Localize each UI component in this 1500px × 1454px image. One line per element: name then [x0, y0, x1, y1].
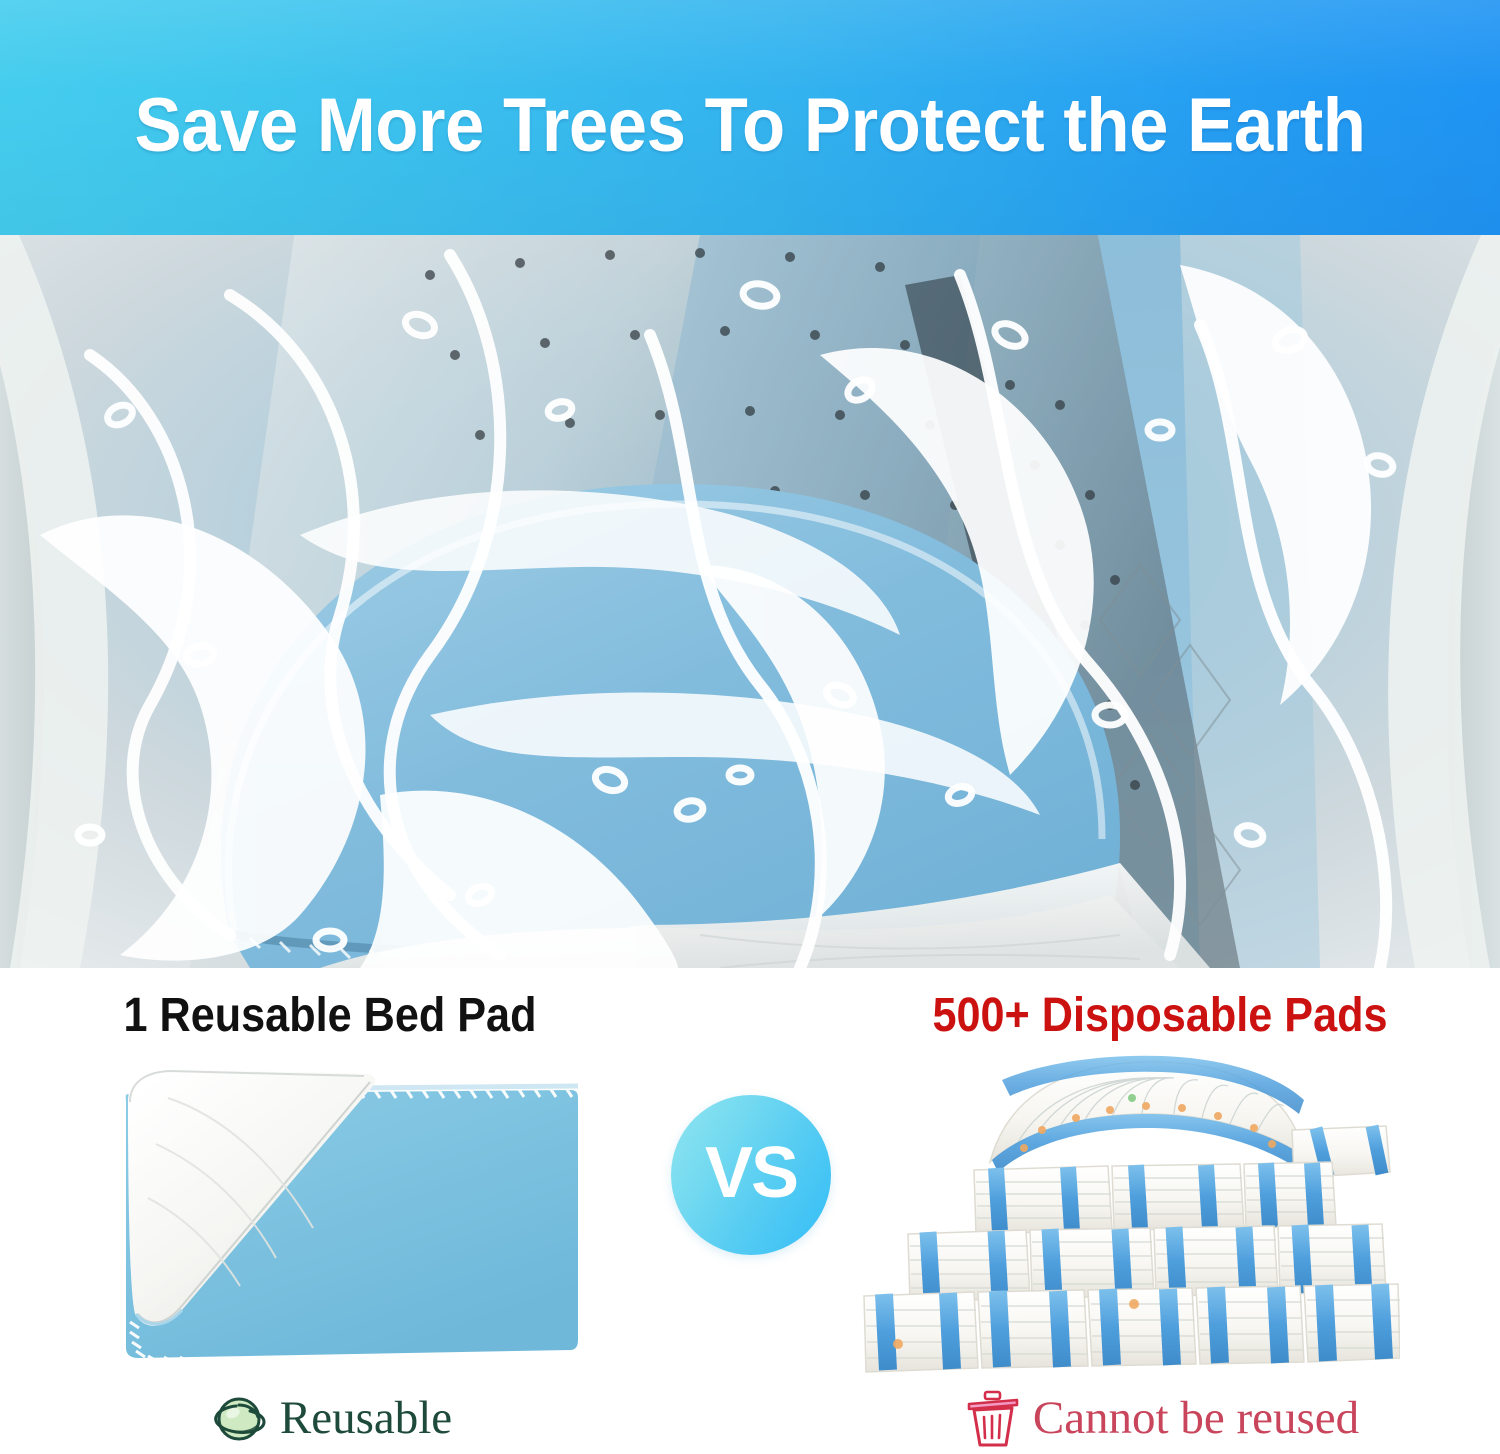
header-banner: Save More Trees To Protect the Earth: [0, 0, 1500, 235]
versus-badge: VS: [671, 1095, 831, 1255]
versus-label: VS: [705, 1137, 797, 1209]
hero-washing-machine-image: [0, 235, 1500, 968]
trash-can-icon: [961, 1387, 1023, 1449]
reusable-caption: Reusable: [0, 1386, 660, 1450]
reusable-caption-label: Reusable: [280, 1391, 452, 1445]
page-title: Save More Trees To Protect the Earth: [53, 84, 1448, 168]
disposable-heading: 500+ Disposable Pads: [863, 988, 1457, 1044]
reusable-heading: 1 Reusable Bed Pad: [33, 988, 627, 1044]
disposable-caption-label: Cannot be reused: [1033, 1391, 1359, 1445]
recycle-planet-icon: [208, 1389, 270, 1447]
disposable-caption: Cannot be reused: [830, 1386, 1490, 1450]
disposable-pads-illustration: [862, 1052, 1400, 1382]
product-infographic: Save More Trees To Protect the Earth: [0, 0, 1500, 1454]
reusable-bed-pad-image: [108, 1058, 588, 1376]
bed-pad-illustration: [108, 1058, 588, 1376]
disposable-pads-image: [862, 1052, 1400, 1382]
washing-machine-illustration: [0, 235, 1500, 968]
